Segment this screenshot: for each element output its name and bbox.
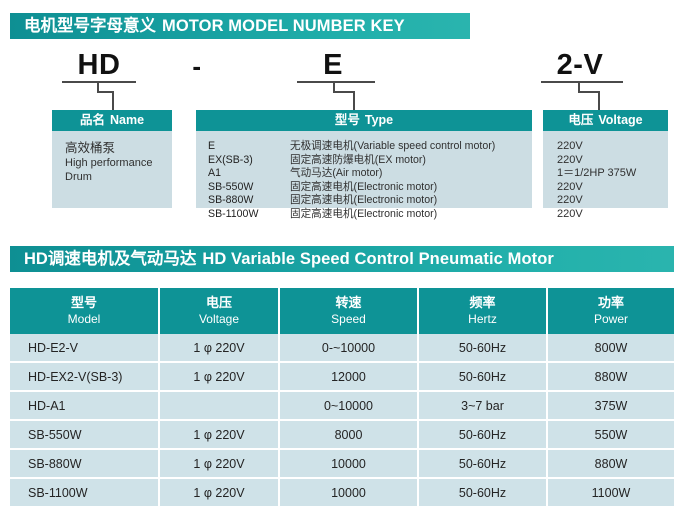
type-row: SB-550W固定高速电机(Electronic motor) [208,181,532,195]
spec-cell-hertz: 50-60Hz [419,363,548,392]
spec-cell-hertz: 50-60Hz [419,450,548,479]
key-box-voltage-header-en: Voltage [598,114,642,127]
key-box-voltage-header-cn: 电压 [568,114,593,127]
model-token-separator: - [182,53,212,79]
spec-cell-voltage: 1 φ 220V [160,479,280,506]
spec-column-header-en: Model [10,311,158,327]
type-row: SB-1100W固定高速电机(Electronic motor) [208,208,532,222]
table-row: HD-E2-V1 φ 220V0-~1000050-60Hz800W [10,334,674,363]
spec-column-header-cn: 转速 [280,295,417,311]
spec-cell-model: HD-E2-V [10,334,160,363]
voltage-row: 220V [557,181,668,195]
spec-cell-power: 375W [548,392,674,421]
name-value-en2: Drum [65,171,172,185]
spec-column-header-en: Voltage [160,311,278,327]
key-box-voltage: 电压Voltage 220V220V1＝1/2HP 375W220V220V22… [543,110,668,208]
type-code: A1 [208,167,290,181]
spec-column-header-en: Hertz [419,311,546,327]
spec-cell-voltage: 1 φ 220V [160,363,280,392]
spec-cell-speed: 10000 [280,450,419,479]
banner-en-key: MOTOR MODEL NUMBER KEY [162,17,405,35]
voltage-row: 220V [557,154,668,168]
section-banner-hd-variable-speed: HD调速电机及气动马达HD Variable Speed Control Pne… [10,246,674,272]
leader-voltage-seg3 [598,91,600,110]
model-token-type: E [315,51,351,80]
spec-cell-power: 1100W [548,479,674,506]
spec-cell-model: SB-880W [10,450,160,479]
table-row: HD-A10~100003~7 bar375W [10,392,674,421]
underline-prefix [62,81,136,83]
type-code: SB-1100W [208,208,290,222]
spec-cell-speed: 0~10000 [280,392,419,421]
type-description: 固定高速防爆电机(EX motor) [290,154,426,168]
voltage-row: 220V [557,194,668,208]
key-box-name-header-en: Name [110,114,144,127]
spec-cell-speed: 12000 [280,363,419,392]
banner-cn-spec: HD调速电机及气动马达 [24,250,196,268]
spec-cell-voltage [160,392,280,421]
spec-cell-speed: 8000 [280,421,419,450]
spec-column-header: 型号Model [10,288,160,334]
spec-table: 型号Model电压Voltage转速Speed频率Hertz功率Power HD… [10,288,674,506]
voltage-row: 220V [557,140,668,154]
spec-cell-model: HD-EX2-V(SB-3) [10,363,160,392]
table-row: HD-EX2-V(SB-3)1 φ 220V1200050-60Hz880W [10,363,674,392]
type-code: EX(SB-3) [208,154,290,168]
spec-cell-power: 880W [548,450,674,479]
table-row: SB-880W1 φ 220V1000050-60Hz880W [10,450,674,479]
type-row: E无极调速电机(Variable speed control motor) [208,140,532,154]
spec-cell-voltage: 1 φ 220V [160,334,280,363]
spec-column-header: 频率Hertz [419,288,548,334]
banner-text-key: 电机型号字母意义MOTOR MODEL NUMBER KEY [24,18,405,35]
spec-cell-power: 550W [548,421,674,450]
spec-cell-model: SB-550W [10,421,160,450]
spec-cell-speed: 0-~10000 [280,334,419,363]
underline-voltage [541,81,623,83]
spec-column-header: 转速Speed [280,288,419,334]
type-description: 固定高速电机(Electronic motor) [290,208,437,222]
table-row: SB-1100W1 φ 220V1000050-60Hz1100W [10,479,674,506]
name-value-cn: 高效桶泵 [65,140,172,157]
spec-cell-voltage: 1 φ 220V [160,421,280,450]
spec-cell-model: HD-A1 [10,392,160,421]
key-box-voltage-body: 220V220V1＝1/2HP 375W220V220V220V [543,131,668,222]
banner-en-spec: HD Variable Speed Control Pneumatic Moto… [202,250,554,268]
spec-cell-hertz: 50-60Hz [419,334,548,363]
model-token-voltage: 2-V [540,51,620,80]
key-box-name-body: 高效桶泵 High performance Drum [52,131,172,184]
spec-column-header: 功率Power [548,288,674,334]
key-box-type-header-cn: 型号 [335,114,360,127]
voltage-row: 1＝1/2HP 375W [557,167,668,181]
key-box-type-header-en: Type [365,114,393,127]
spec-cell-model: SB-1100W [10,479,160,506]
type-code: SB-880W [208,194,290,208]
banner-cn-key: 电机型号字母意义 [24,17,156,35]
leader-type-seg3 [353,91,355,110]
spec-cell-hertz: 3~7 bar [419,392,548,421]
section-banner-motor-model-key: 电机型号字母意义MOTOR MODEL NUMBER KEY [10,13,470,39]
leader-voltage-seg2 [578,91,600,93]
leader-type-seg2 [333,91,355,93]
key-box-name-header-cn: 品名 [80,114,105,127]
spec-column-header-cn: 型号 [10,295,158,311]
type-description: 气动马达(Air motor) [290,167,382,181]
table-row: SB-550W1 φ 220V800050-60Hz550W [10,421,674,450]
type-description: 固定高速电机(Electronic motor) [290,181,437,195]
key-box-type-body: E无极调速电机(Variable speed control motor)EX(… [196,131,532,222]
leader-prefix-seg3 [112,91,114,110]
spec-column-header-cn: 频率 [419,295,546,311]
spec-table-header-row: 型号Model电压Voltage转速Speed频率Hertz功率Power [10,288,674,334]
key-box-name: 品名Name 高效桶泵 High performance Drum [52,110,172,208]
key-box-type-header: 型号Type [196,110,532,131]
spec-column-header-cn: 电压 [160,295,278,311]
banner-text-spec: HD调速电机及气动马达HD Variable Speed Control Pne… [24,251,554,268]
key-box-type: 型号Type E无极调速电机(Variable speed control mo… [196,110,532,208]
spec-cell-hertz: 50-60Hz [419,479,548,506]
type-row: EX(SB-3)固定高速防爆电机(EX motor) [208,154,532,168]
spec-column-header: 电压Voltage [160,288,280,334]
spec-column-header-en: Power [548,311,674,327]
model-breakdown-row: HD - E 2-V [0,45,684,93]
spec-column-header-cn: 功率 [548,295,674,311]
type-row: SB-880W固定高速电机(Electronic motor) [208,194,532,208]
spec-cell-power: 880W [548,363,674,392]
type-row: A1气动马达(Air motor) [208,167,532,181]
key-box-voltage-header: 电压Voltage [543,110,668,131]
spec-cell-speed: 10000 [280,479,419,506]
model-token-prefix: HD [63,51,135,80]
spec-cell-hertz: 50-60Hz [419,421,548,450]
spec-column-header-en: Speed [280,311,417,327]
key-box-name-header: 品名Name [52,110,172,131]
type-description: 固定高速电机(Electronic motor) [290,194,437,208]
voltage-row: 220V [557,208,668,222]
type-description: 无极调速电机(Variable speed control motor) [290,140,495,154]
spec-cell-power: 800W [548,334,674,363]
name-value-en1: High performance [65,157,172,171]
spec-cell-voltage: 1 φ 220V [160,450,280,479]
type-code: SB-550W [208,181,290,195]
underline-type [297,81,375,83]
type-code: E [208,140,290,154]
